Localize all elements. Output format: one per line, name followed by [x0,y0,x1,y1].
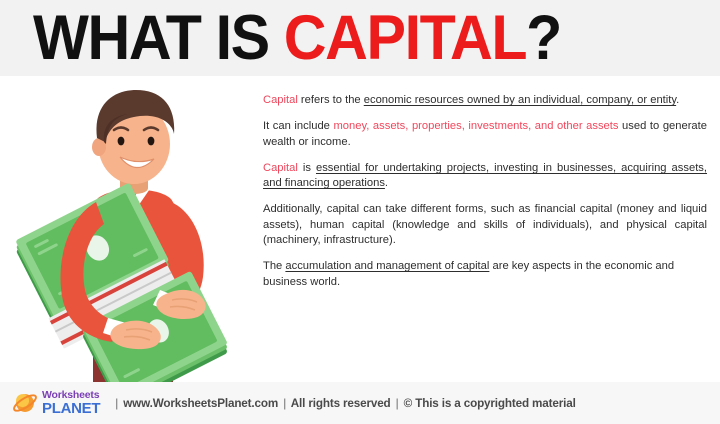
definition-text-block: Capital refers to the economic resources… [263,93,707,290]
head-group [92,90,174,184]
worksheets-planet-logo[interactable]: Worksheets PLANET [12,390,100,417]
p5-seg-plain-a: The [263,260,285,272]
logo-word-worksheets: Worksheets [42,390,100,401]
page-title: WHAT IS CAPITAL? [33,6,561,70]
p4-seg-plain: Additionally, capital can take different… [263,203,707,246]
paragraph-1: Capital refers to the economic resources… [263,93,707,108]
eye-left [118,137,125,146]
paragraph-3: Capital is essential for undertaking pro… [263,161,707,192]
footer-website[interactable]: www.WorksheetsPlanet.com [123,397,278,410]
p2-seg-plain-a: It can include [263,120,333,132]
footer-bar: Worksheets PLANET | www.WorksheetsPlanet… [0,382,720,424]
worksheet-page: WHAT IS CAPITAL? [0,0,720,424]
p1-seg-red: Capital [263,94,298,106]
p3-seg-red: Capital [263,162,298,174]
planet-icon [12,390,38,416]
paragraph-4: Additionally, capital can take different… [263,202,707,248]
footer-copyright: © This is a copyrighted material [404,397,576,410]
p5-seg-underline: accumulation and management of capital [285,260,489,272]
page-title-part-2: CAPITAL [284,3,526,73]
p1-seg-period: . [676,94,679,106]
illustration-man-with-money [8,72,258,387]
footer-divider-3: | [394,397,401,410]
p3-seg-period: . [385,177,388,189]
logo-word-planet: PLANET [42,401,100,416]
logo-wordmark: Worksheets PLANET [42,390,100,417]
footer-divider-2: | [281,397,288,410]
footer-rights: All rights reserved [291,397,391,410]
paragraph-5: The accumulation and management of capit… [263,259,707,290]
footer-credits: | www.WorksheetsPlanet.com | All rights … [113,397,575,410]
p2-seg-red: money, assets, properties, investments, … [333,120,618,132]
eye-right [148,137,155,146]
p1-seg-plain: refers to the [298,94,364,106]
footer-divider-1: | [113,397,120,410]
paragraph-2: It can include money, assets, properties… [263,119,707,150]
p3-seg-plain: is [298,162,316,174]
page-title-part-3: ? [526,3,561,73]
p1-seg-underline: economic resources owned by an individua… [364,94,676,106]
p3-seg-underline: essential for undertaking projects, inve… [263,162,707,189]
page-title-part-1: WHAT IS [33,3,284,73]
